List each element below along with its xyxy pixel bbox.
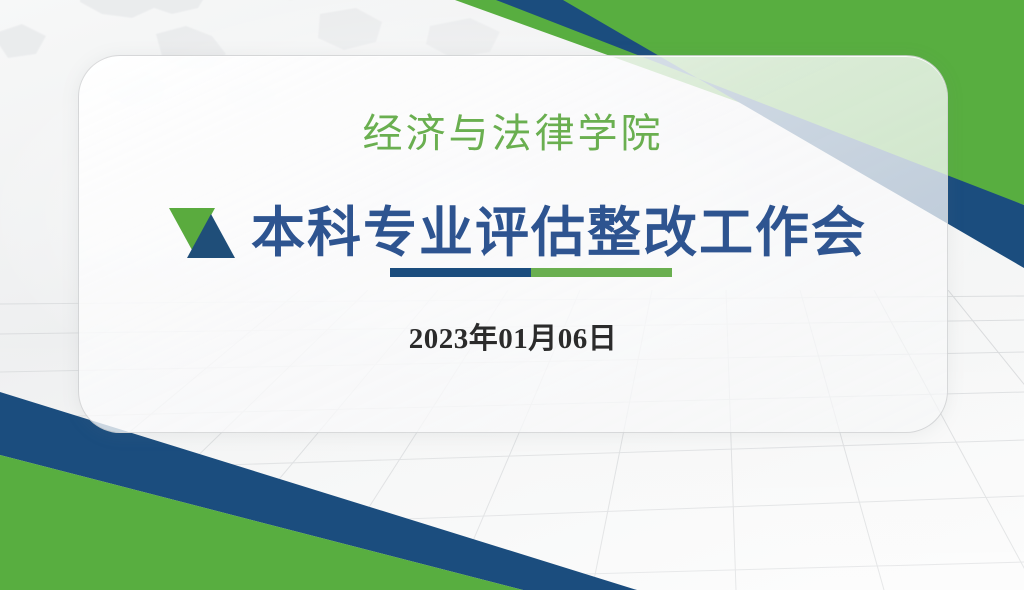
department-name: 经济与法律学院 (363, 112, 664, 156)
title-underline (79, 268, 947, 277)
title-card: 经济与法律学院 本科专业评估整改工作会 2023年01月06日 (78, 55, 948, 433)
page-title: 本科专业评估整改工作会 (251, 205, 867, 262)
underline-blue-segment (390, 268, 531, 277)
underline-green-segment (531, 268, 672, 277)
title-row: 本科专业评估整改工作会 (79, 204, 947, 262)
presentation-slide: 经济与法律学院 本科专业评估整改工作会 2023年01月06日 (0, 0, 1024, 590)
slide-date: 2023年01月06日 (409, 315, 618, 357)
double-triangle-logo (167, 204, 237, 262)
